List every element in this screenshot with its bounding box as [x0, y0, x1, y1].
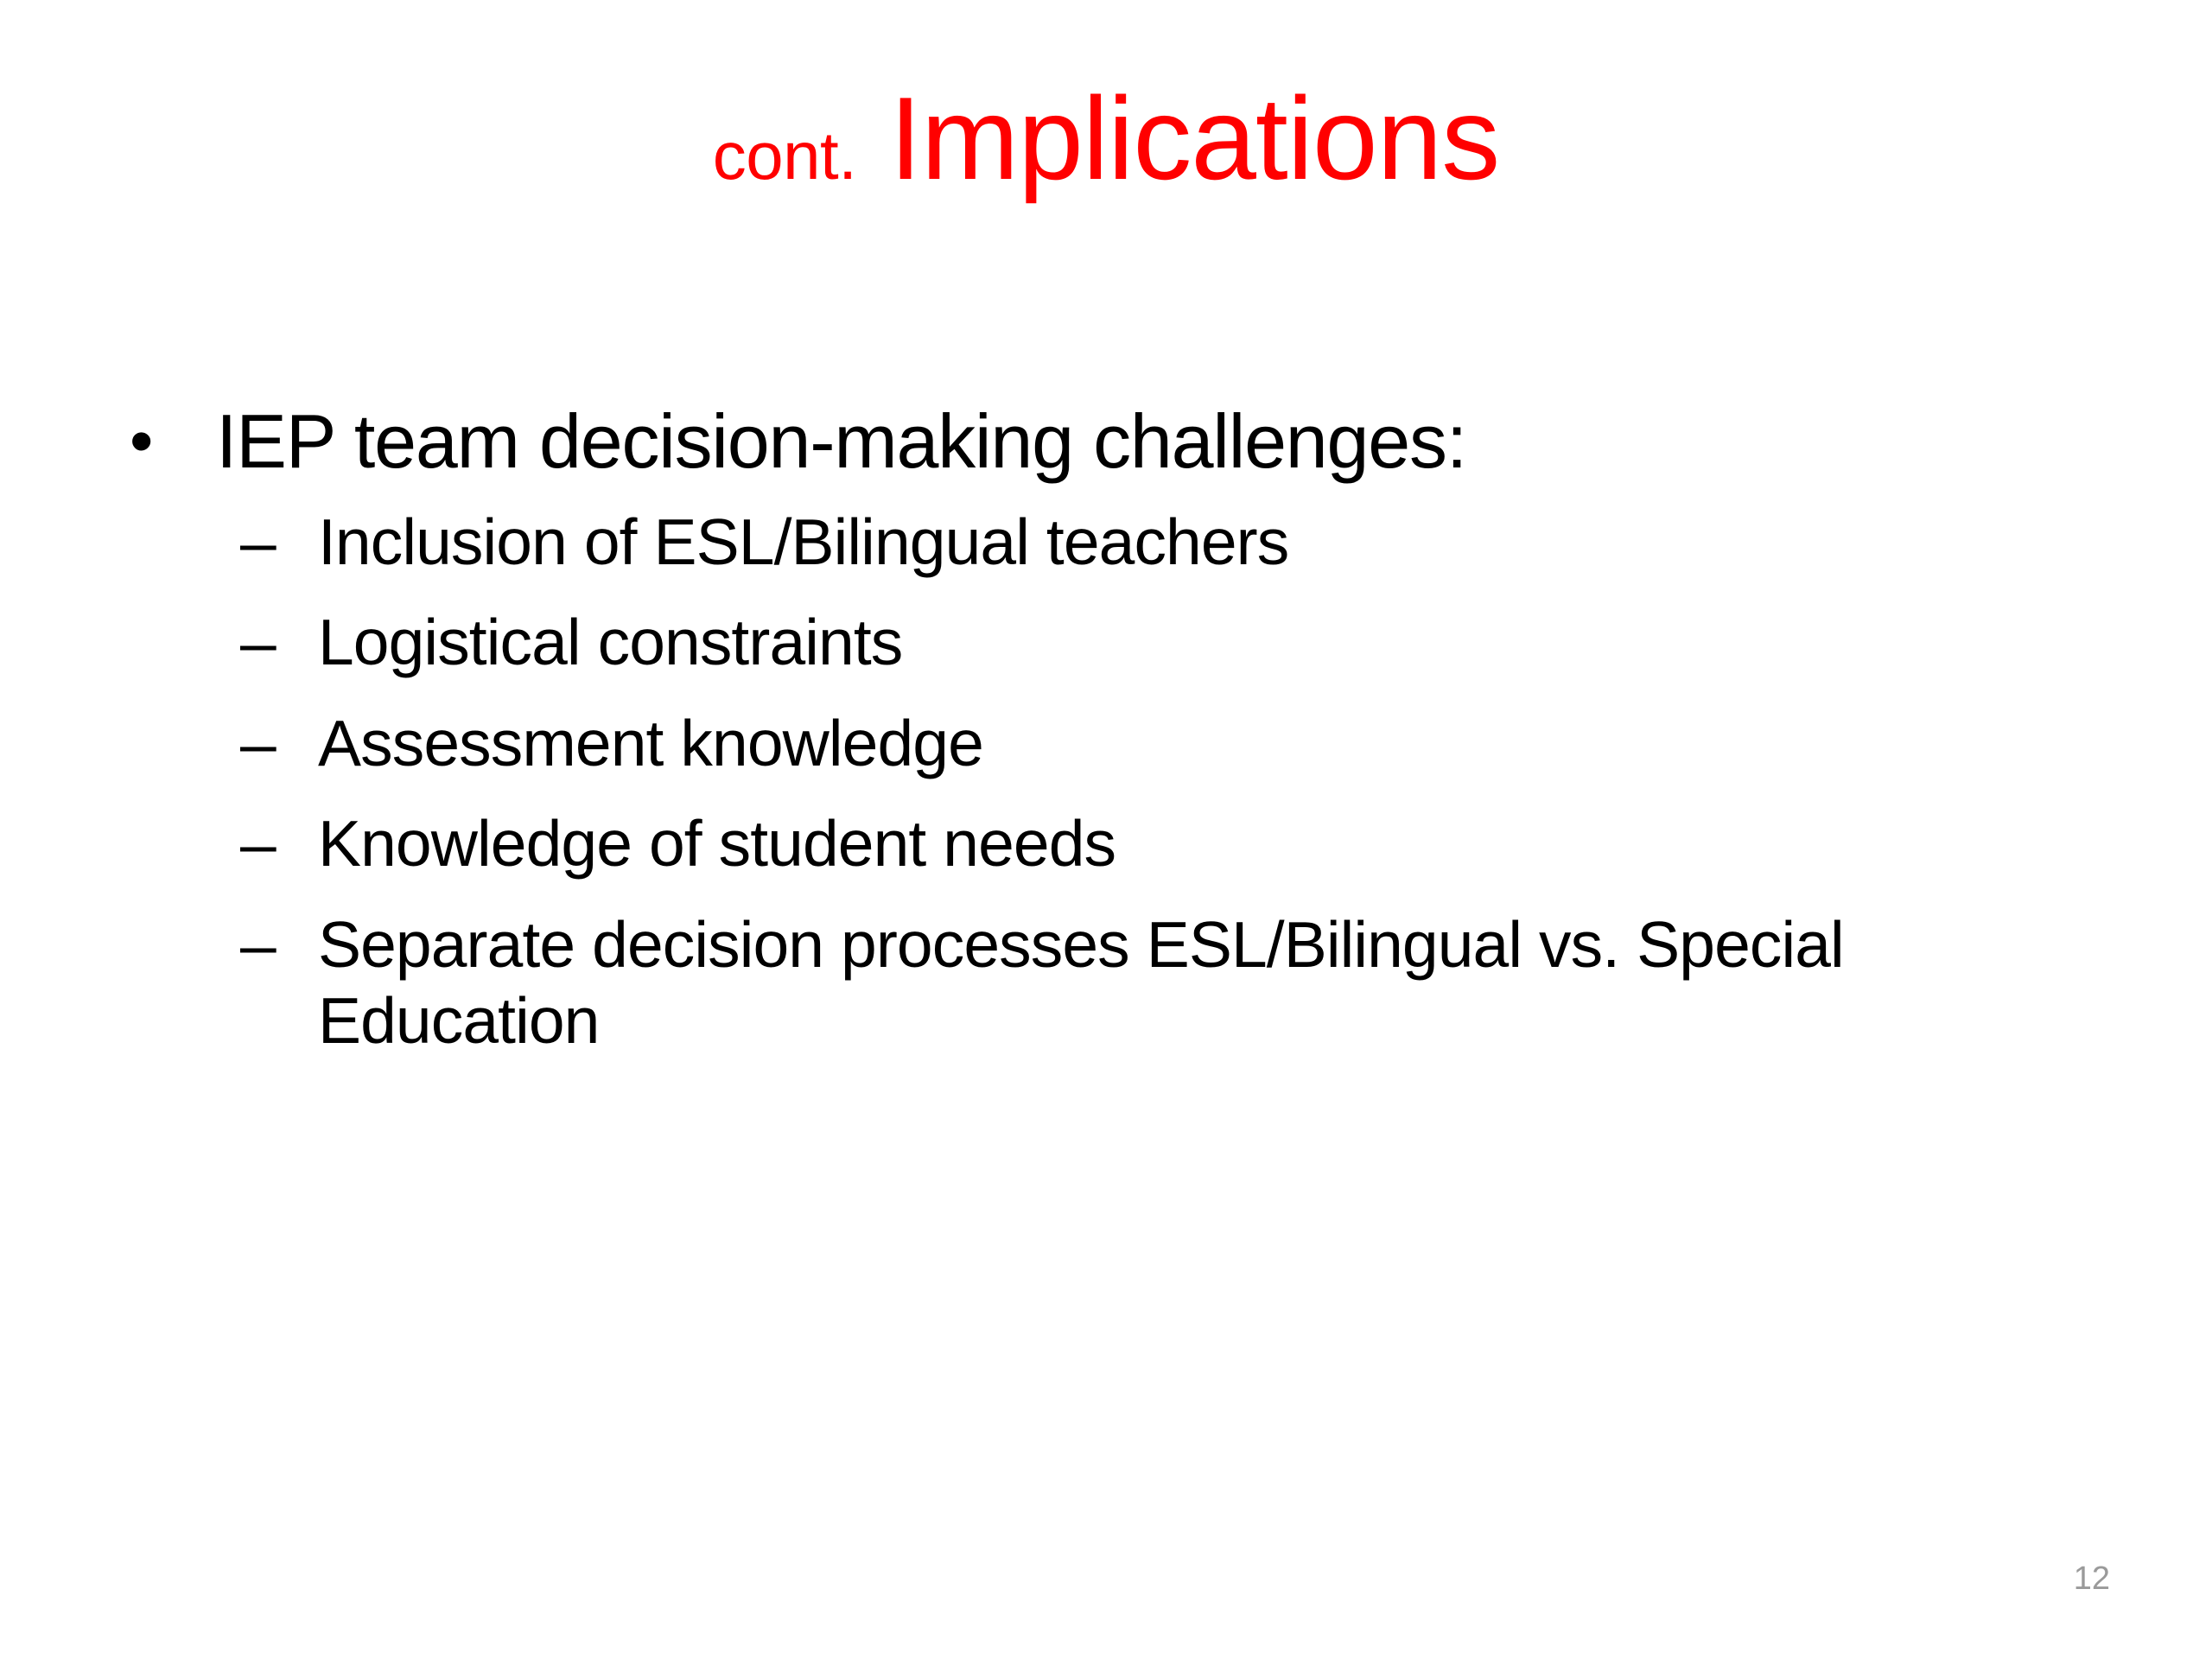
title-prefix-cont: cont.: [713, 118, 857, 194]
page-number: 12: [2074, 1560, 2110, 1598]
dash-marker-icon: –: [240, 805, 318, 882]
list-item: – Separate decision processes ESL/Biling…: [130, 906, 2108, 1059]
sub-bullet-text-inclusion: Inclusion of ESL/Bilingual teachers: [318, 504, 2072, 581]
slide-body-content: • IEP team decision-making challenges: –…: [130, 399, 2108, 1084]
slide-canvas: cont. Implications • IEP team decision-m…: [0, 0, 2212, 1659]
list-item: – Assessment knowledge: [130, 705, 2108, 782]
sub-bullet-text-separate-processes: Separate decision processes ESL/Bilingua…: [318, 906, 2072, 1059]
sub-bullet-text-logistical: Logistical constraints: [318, 604, 2072, 681]
title-main-implications: Implications: [889, 73, 1499, 204]
bullet-item-level1: • IEP team decision-making challenges:: [130, 399, 2108, 485]
sub-bullet-text-assessment: Assessment knowledge: [318, 705, 2072, 782]
dash-marker-icon: –: [240, 705, 318, 782]
list-item: – Knowledge of student needs: [130, 805, 2108, 882]
list-item: – Inclusion of ESL/Bilingual teachers: [130, 504, 2108, 581]
sub-bullet-list: – Inclusion of ESL/Bilingual teachers – …: [130, 504, 2108, 1059]
bullet-dot-icon: •: [130, 399, 216, 483]
list-item: – Logistical constraints: [130, 604, 2108, 681]
dash-marker-icon: –: [240, 504, 318, 581]
dash-marker-icon: –: [240, 906, 318, 983]
sub-bullet-text-student-needs: Knowledge of student needs: [318, 805, 2072, 882]
bullet-level1-text: IEP team decision-making challenges:: [216, 399, 2108, 485]
dash-marker-icon: –: [240, 604, 318, 681]
slide-title: cont. Implications: [0, 79, 2212, 197]
